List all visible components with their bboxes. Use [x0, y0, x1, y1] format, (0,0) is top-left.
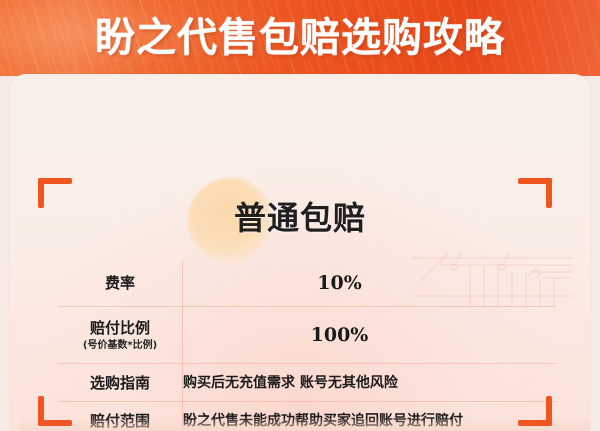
- table-row: 赔付范围 盼之代售未能成功帮助买家追回账号进行赔付: [58, 402, 556, 431]
- row-value: 购买后无充值需求 账号无其他风险: [183, 373, 556, 393]
- row-value-cell: 10%: [183, 260, 557, 307]
- row-value-cell: 盼之代售未能成功帮助买家追回账号进行赔付: [183, 402, 557, 431]
- banner-title: 盼之代售包赔选购攻略: [0, 12, 600, 64]
- table-row: 费率 10%: [58, 260, 556, 307]
- corner-bracket-top-right-icon: [518, 178, 552, 208]
- row-sublabel: (号价基数*比例): [58, 339, 182, 353]
- content-card: 普通包赔: [10, 74, 590, 431]
- table-row: 选购指南 购买后无充值需求 账号无其他风险: [58, 364, 556, 402]
- row-label: 赔付比例: [58, 318, 182, 338]
- row-value: 100%: [183, 324, 556, 346]
- row-label: 选购指南: [58, 373, 182, 393]
- row-label: 费率: [58, 273, 182, 293]
- row-label-cell: 费率: [58, 260, 183, 307]
- row-label-cell: 选购指南: [58, 364, 183, 402]
- header-banner: 盼之代售包赔选购攻略: [0, 0, 600, 76]
- row-value: 10%: [183, 272, 556, 294]
- corner-bracket-bottom-left-icon: [38, 396, 72, 426]
- row-label-cell: 赔付范围: [58, 402, 183, 431]
- card-title: 普通包赔: [10, 197, 590, 239]
- row-label: 赔付范围: [58, 411, 182, 431]
- row-label-cell: 赔付比例 (号价基数*比例): [58, 307, 183, 364]
- benefits-table: 费率 10% 赔付比例 (号价基数*比例) 100%: [58, 260, 556, 431]
- table-row: 赔付比例 (号价基数*比例) 100%: [58, 307, 556, 364]
- corner-bracket-top-left-icon: [38, 178, 72, 208]
- row-value-cell: 100%: [183, 307, 557, 364]
- corner-bracket-bottom-right-icon: [518, 396, 552, 426]
- row-value: 盼之代售未能成功帮助买家追回账号进行赔付: [183, 411, 556, 431]
- row-value-cell: 购买后无充值需求 账号无其他风险: [183, 364, 557, 402]
- promo-page: 盼之代售包赔选购攻略 普通包赔: [0, 0, 600, 431]
